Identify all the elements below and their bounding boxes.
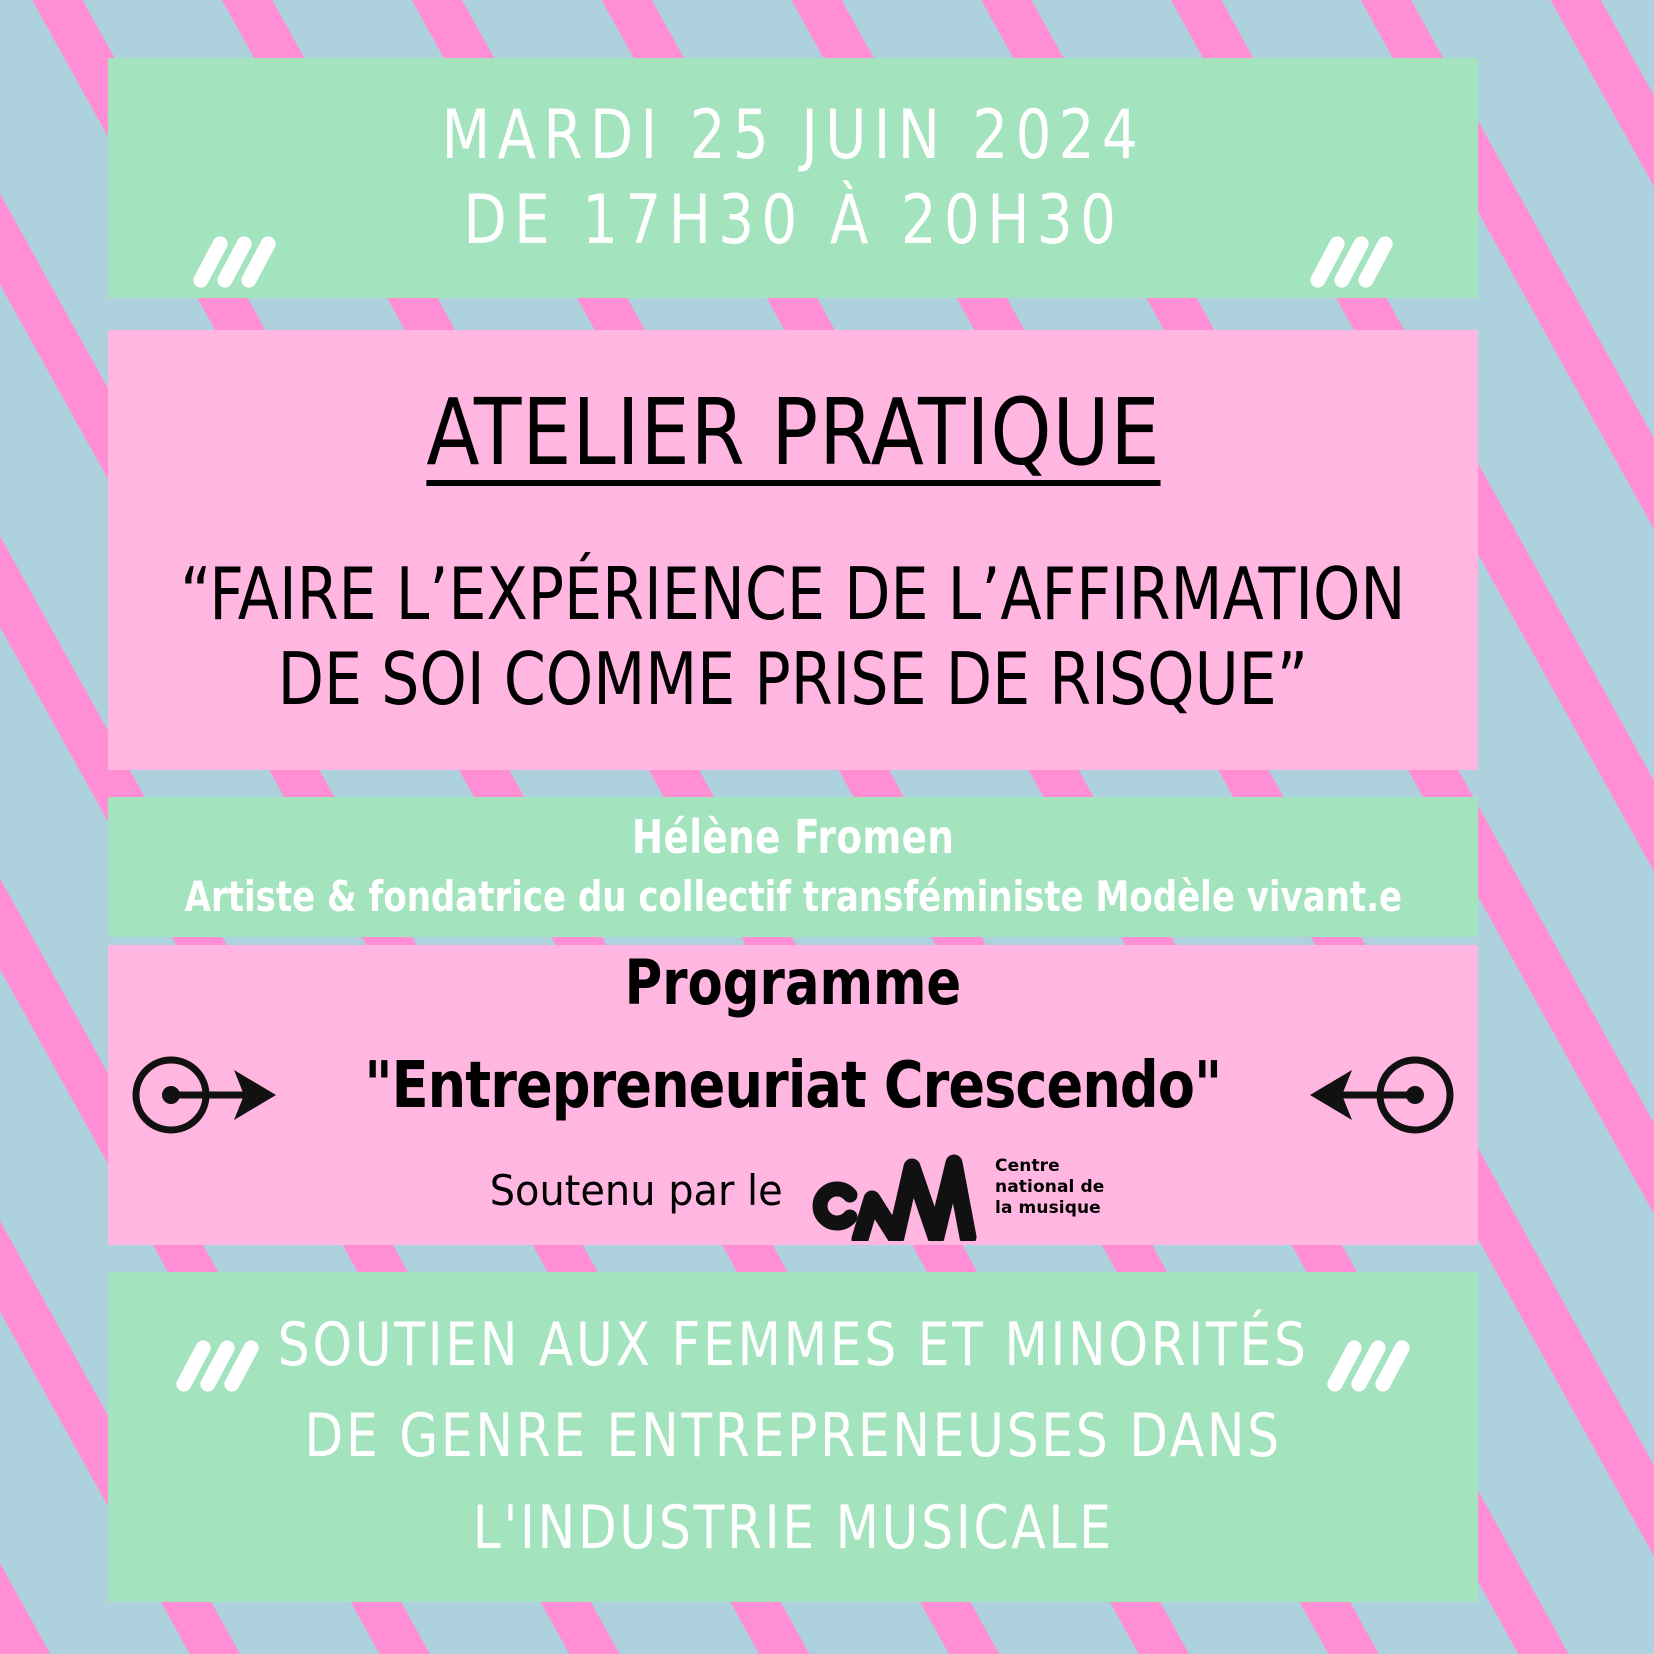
triple-slash-icon (1337, 1338, 1400, 1394)
event-date-text: MARDI 25 JUIN 2024 DE 17H30 À 20H30 (441, 93, 1144, 263)
triple-slash-icon (203, 234, 266, 290)
programme-band: Programme "Entrepreneuriat Crescendo" So… (108, 945, 1478, 1245)
programme-name: "Entrepreneuriat Crescendo" (365, 1049, 1222, 1123)
mission-line1: SOUTIEN AUX FEMMES ET MINORITÉS (278, 1300, 1309, 1391)
cnm-tagline: Centre national de la musique (995, 1156, 1104, 1240)
mission-line2: DE GENRE ENTREPRENEUSES DANS (278, 1391, 1309, 1482)
triple-slash-icon (1320, 234, 1383, 290)
speaker-name: Hélène Fromen (632, 811, 954, 864)
page-title: ATELIER PRATIQUE (426, 379, 1160, 486)
poster-root: MARDI 25 JUIN 2024 DE 17H30 À 20H30 ATEL… (0, 0, 1654, 1654)
cnm-logo: Centre national de la musique (808, 1141, 1104, 1241)
support-row: Soutenu par le Centre national de la mus… (482, 1141, 1105, 1241)
programme-label: Programme (625, 946, 962, 1019)
title-band: ATELIER PRATIQUE “FAIRE L’EXPÉRIENCE DE … (108, 330, 1478, 770)
mission-text: SOUTIEN AUX FEMMES ET MINORITÉS DE GENRE… (278, 1300, 1309, 1574)
triple-slash-icon (186, 1338, 249, 1394)
workshop-quote-line2: DE SOI COMME PRISE DE RISQUE” (180, 637, 1405, 721)
programme-inner: Programme "Entrepreneuriat Crescendo" So… (108, 945, 1478, 1245)
cnm-wordmark-icon (808, 1141, 983, 1241)
date-band: MARDI 25 JUIN 2024 DE 17H30 À 20H30 (108, 58, 1478, 298)
workshop-quote: “FAIRE L’EXPÉRIENCE DE L’AFFIRMATION DE … (180, 552, 1405, 720)
workshop-quote-line1: “FAIRE L’EXPÉRIENCE DE L’AFFIRMATION (180, 552, 1405, 636)
mission-band: SOUTIEN AUX FEMMES ET MINORITÉS DE GENRE… (108, 1272, 1478, 1602)
event-date-line1: MARDI 25 JUIN 2024 (441, 93, 1144, 178)
speaker-role: Artiste & fondatrice du collectif transf… (184, 872, 1401, 922)
event-date-line2: DE 17H30 À 20H30 (441, 178, 1144, 263)
speaker-band: Hélène Fromen Artiste & fondatrice du co… (108, 797, 1478, 937)
mission-line3: L'INDUSTRIE MUSICALE (278, 1483, 1309, 1574)
circle-dot-arrow-left-icon (1310, 1050, 1460, 1140)
support-text: Soutenu par le (489, 1166, 782, 1215)
